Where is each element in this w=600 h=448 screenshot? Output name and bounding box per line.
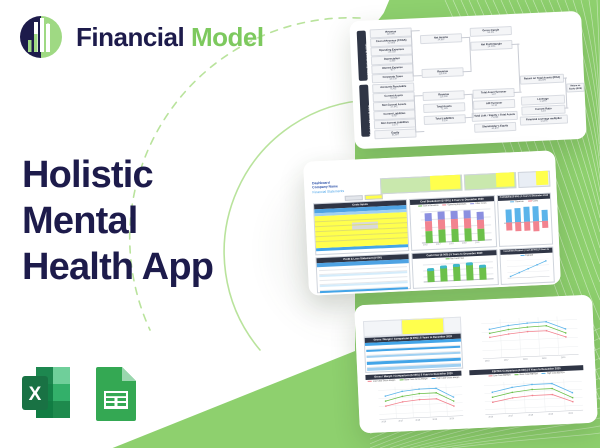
diagram-node: A/R Turnover12.16 (473, 99, 515, 110)
brand-name: Financial Model (76, 22, 264, 53)
file-format-icons: X (20, 365, 142, 421)
axis-tick: 2018 (449, 243, 454, 245)
axis-tick: 2020 (449, 418, 454, 420)
excel-icon-letter: X (29, 384, 42, 405)
google-sheets-icon[interactable] (90, 365, 142, 421)
chart-gross-margin-compare: Gross / Margin / Comparison ($ 000) | 5 … (365, 370, 467, 428)
input-values-1 (430, 175, 461, 190)
panel-profit-loss: Profit & Loss Statement ($ 000) (315, 253, 411, 293)
stacked-bar-chart (420, 208, 491, 243)
dupont-diagram: Income Statement ($ 000) Balance Sheet (… (349, 11, 587, 149)
line-chart (378, 384, 463, 421)
axis-tick: 2018 (415, 420, 420, 422)
diagram-node: Revenue119,000 (423, 90, 465, 101)
brand-name-part1: Financial (76, 22, 184, 52)
brand-name-part2: Model (191, 22, 264, 52)
axis-tick: 2017 (436, 244, 441, 246)
diagram-node: Total Assets71,029 (423, 102, 465, 113)
assumptions-table (363, 317, 460, 335)
axis-tick: 2016 (423, 244, 428, 246)
line-chart (481, 315, 579, 359)
ratios-charts-card[interactable]: Gross / Margin / Comparison ($ 000) | 5 … (354, 295, 598, 434)
axis-tick: 2017 (508, 415, 513, 417)
panel-cost-breakdown: Cost Breakdown ($ 000) | 5 Years to Dece… (409, 195, 497, 251)
diagram-node: Gross margin60.0% (470, 26, 512, 37)
panel-investment-payback: Investment Payback | Cash ($ 000) | 5 Ye… (499, 247, 555, 285)
axis-tick: 2016 (382, 421, 387, 423)
panel-profitability: Profitability ($ 000) | 5 Years to Decem… (497, 193, 553, 247)
axis-tick: 2019 (462, 242, 467, 244)
axis-tick: 2019 (542, 358, 547, 360)
dashboard-button-1[interactable] (345, 195, 363, 201)
input-values-2 (496, 172, 515, 187)
axis-tick: 2020 (561, 357, 566, 359)
diagram-node: Total Asset Turnover1.67 (472, 88, 514, 99)
page-title-line-1: Holistic (22, 152, 262, 198)
diagram-node: Total Liabilities9,132 (424, 114, 466, 125)
panel-financials-table: Gross / Margin / Comparison ($ 000) | 5 … (364, 333, 464, 373)
panel-cash-flow: Cash Flow ($ 000) | 5 Years to December … (411, 249, 499, 289)
diagram-node: Return on Equity (ROE)56.49% (566, 83, 584, 93)
diagram-side-label-balance: Balance Sheet ($ 000) (359, 85, 370, 137)
poster-canvas: Financial Model Holistic Mental Health A… (0, 0, 600, 448)
diagram-node: Shareholder's Equity61,897 (474, 122, 516, 133)
excel-icon[interactable]: X (20, 365, 72, 421)
page-title: Holistic Mental Health App (22, 152, 262, 290)
brand-logo: Financial Model (18, 14, 264, 60)
page-title-line-2: Mental (22, 198, 262, 244)
line-chart (484, 378, 583, 415)
axis-tick: 2018 (528, 414, 533, 416)
axis-tick: 2017 (398, 420, 403, 422)
dashboard-button-2[interactable] (365, 194, 383, 200)
dashboard-link[interactable]: Financial Statements (312, 189, 344, 195)
diagram-node: Equity61,897 (374, 128, 416, 139)
axis-tick: 2016 (485, 360, 490, 362)
page-title-line-3: Health App (22, 244, 262, 290)
axis-tick: 2016 (488, 416, 493, 418)
diagram-side-label-income: Income Statement ($ 000) (357, 31, 368, 81)
panel-costs-inputs: Costs Inputs (313, 199, 409, 255)
axis-tick: 2017 (504, 360, 509, 362)
diagram-node: Revenue119,000 (421, 67, 463, 78)
bar-chart (423, 261, 494, 282)
chart-ebitda-top: 2016 2017 2018 2019 2020 (467, 311, 583, 366)
line-chart (507, 259, 550, 279)
circle-bar-chart-logo-icon (18, 14, 64, 60)
ratios-charts: Gross / Margin / Comparison ($ 000) | 5 … (354, 295, 598, 434)
axis-tick: 2018 (523, 359, 528, 361)
input-values-3 (536, 171, 549, 186)
financial-dashboard-card[interactable]: Dashboard Company Name Financial Stateme… (303, 150, 561, 295)
diagram-node: Financial Leverage multiplier1.1476 (520, 115, 568, 126)
axis-tick: 2020 (568, 413, 573, 415)
diagram-node: Net Income34,967 (420, 33, 462, 44)
axis-tick: 2019 (432, 419, 437, 421)
dupont-diagram-card[interactable]: Income Statement ($ 000) Balance Sheet (… (349, 11, 587, 149)
axis-tick: 2020 (475, 242, 480, 244)
diagram-node: Return on Total Assets (ROA)49.23% (520, 74, 564, 85)
diagram-node: Total Liab. / Equity = Total Assets71,02… (471, 111, 517, 122)
financial-dashboard: Dashboard Company Name Financial Stateme… (303, 150, 561, 295)
dashboard-header: Dashboard Company Name Financial Stateme… (312, 180, 344, 195)
chart-ebitda-compare: EBITDA Comparison ($ 000) | 5 Years to D… (469, 365, 589, 424)
column-chart (503, 206, 548, 240)
diagram-node: Net Profit Margin29.39% (470, 40, 512, 51)
axis-tick: 2019 (548, 414, 553, 416)
